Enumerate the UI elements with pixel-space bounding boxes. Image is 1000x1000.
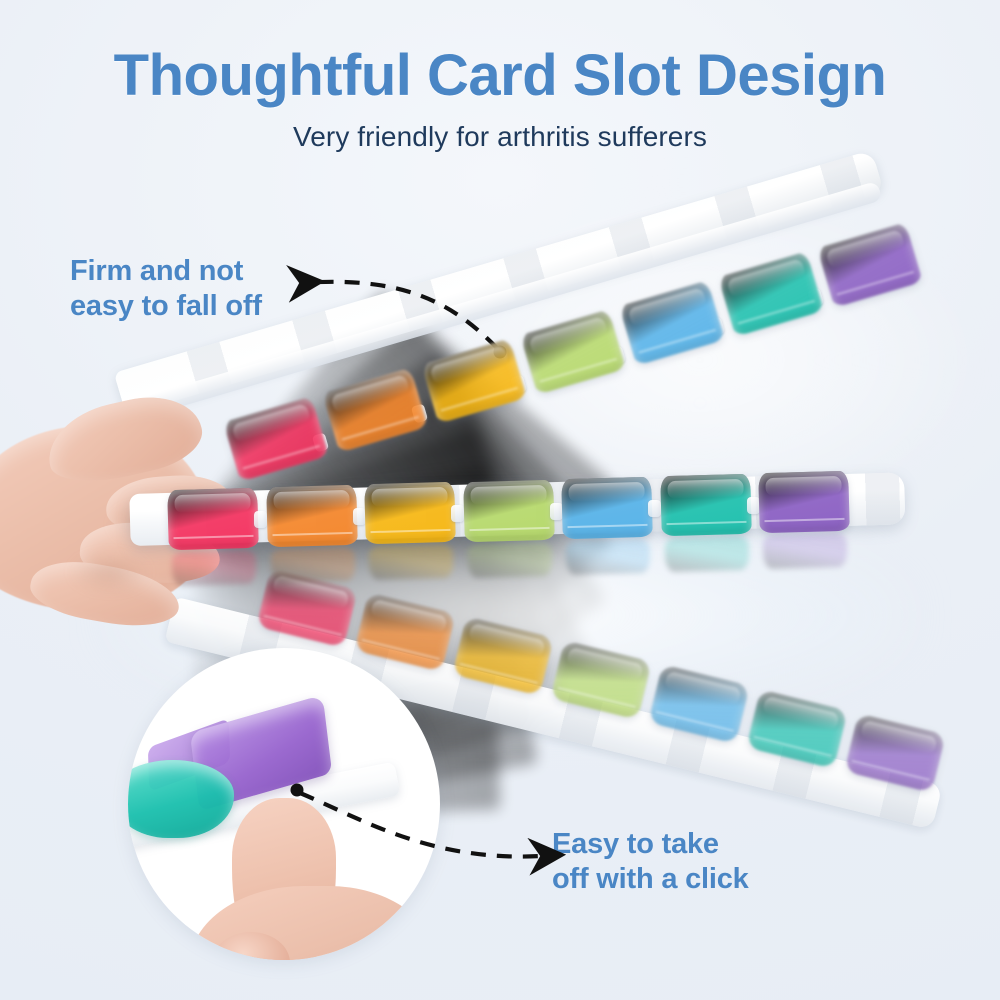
lid-reflection <box>270 547 355 583</box>
lid-hinge-nub <box>353 508 366 525</box>
lid-yellow-middle[interactable] <box>364 482 456 544</box>
page-subtitle: Very friendly for arthritis sufferers <box>0 121 1000 153</box>
product-marketing-image: Thoughtful Card Slot Design Very friendl… <box>0 0 1000 1000</box>
lid-teal-middle[interactable] <box>660 474 752 536</box>
lid-purple-middle[interactable] <box>758 471 850 533</box>
callout-firm-label: Firm and not easy to fall off <box>70 254 262 325</box>
lid-reflection <box>566 539 651 575</box>
lid-hinge-nub <box>550 503 563 520</box>
lid-reflection <box>172 550 257 586</box>
page-title: Thoughtful Card Slot Design <box>0 46 1000 107</box>
lid-hinge-nub <box>747 497 760 514</box>
detail-inset-scene <box>128 648 440 960</box>
knuckle-shading <box>70 552 150 592</box>
lid-reflection <box>664 536 749 572</box>
headline-block: Thoughtful Card Slot Design Very friendl… <box>0 46 1000 153</box>
lid-blue-middle[interactable] <box>561 477 653 539</box>
detail-inset-circle <box>128 648 440 960</box>
lid-pink-middle[interactable] <box>167 488 259 550</box>
lid-reflection <box>467 542 552 578</box>
lid-hinge-nub <box>451 505 464 522</box>
lid-reflection <box>763 533 848 569</box>
lid-hinge-nub <box>254 511 267 528</box>
lid-green-middle[interactable] <box>463 479 555 541</box>
callout-click-label: Easy to take off with a click <box>552 827 749 898</box>
lid-hinge-nub <box>648 500 661 517</box>
lid-reflection <box>369 544 454 580</box>
lid-orange-middle[interactable] <box>266 485 358 547</box>
